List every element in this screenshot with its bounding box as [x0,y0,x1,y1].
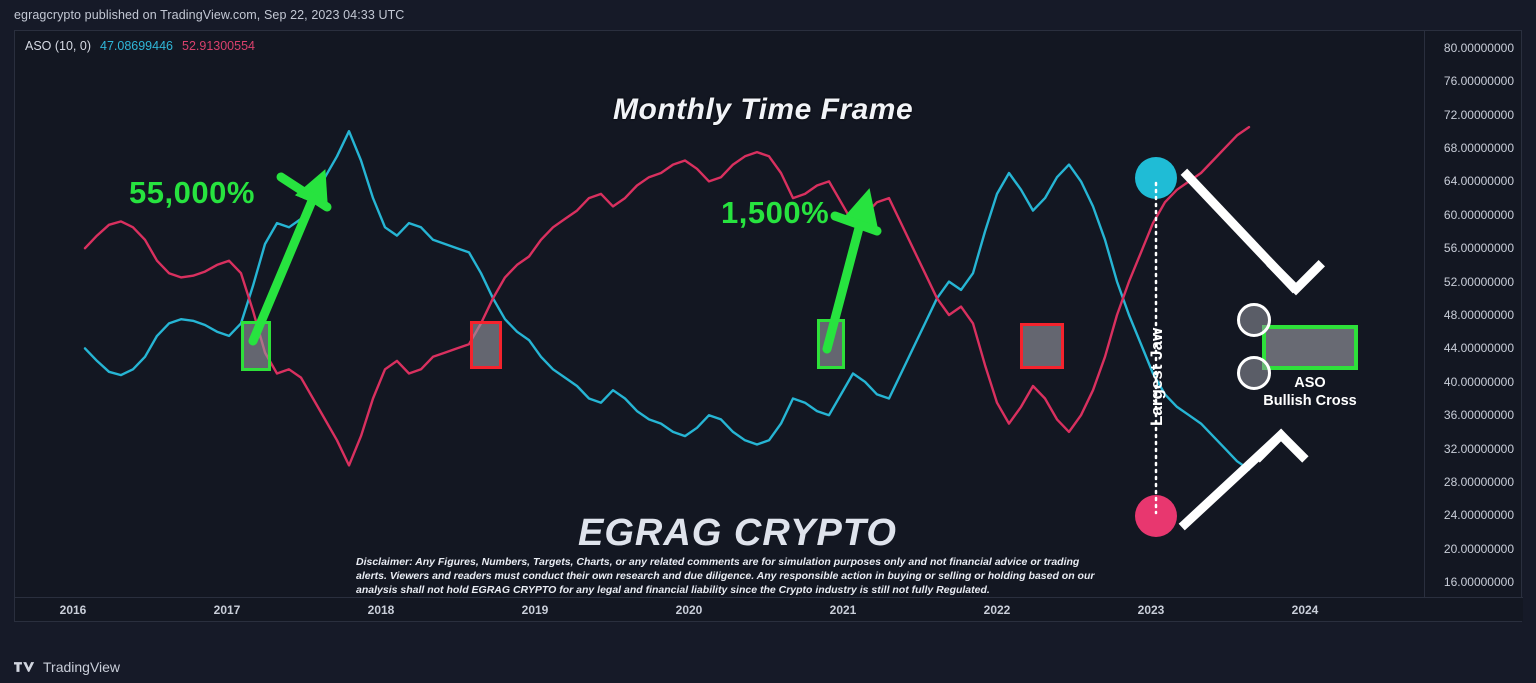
time-axis-tick: 2018 [368,603,395,617]
price-axis-tick: 60.00000000 [1444,208,1514,222]
bullish-cross-ring [1237,356,1271,390]
jaw-top-marker [1135,157,1177,199]
price-axis-tick: 40.00000000 [1444,375,1514,389]
price-axis-tick: 32.00000000 [1444,442,1514,456]
bearish-cross-ring [1237,303,1271,337]
legend-bull-value: 47.08699446 [100,39,173,53]
bearish-signal-box [1020,323,1064,369]
time-axis-tick: 2016 [60,603,87,617]
price-axis-tick: 68.00000000 [1444,141,1514,155]
time-axis-tick: 2022 [984,603,1011,617]
time-axis-tick: 2024 [1292,603,1319,617]
bullish-signal-box [817,319,845,369]
price-axis-tick: 56.00000000 [1444,241,1514,255]
time-axis-tick: 2017 [214,603,241,617]
price-axis-tick: 72.00000000 [1444,108,1514,122]
series-line [85,131,1249,469]
price-axis-tick: 24.00000000 [1444,508,1514,522]
price-axis-tick: 16.00000000 [1444,575,1514,589]
time-axis-tick: 2020 [676,603,703,617]
price-axis-tick: 64.00000000 [1444,174,1514,188]
price-axis-tick: 20.00000000 [1444,542,1514,556]
bearish-signal-box [470,321,502,369]
tradingview-brand-label: TradingView [43,659,120,675]
aso-result-box [1262,325,1358,370]
time-axis[interactable]: 201620172018201920202021202220232024 [15,597,1523,621]
price-axis-tick: 76.00000000 [1444,74,1514,88]
tradingview-logo-icon [14,660,36,674]
bullish-signal-box [241,321,271,371]
chart-pane: ASO (10, 0) 47.08699446 52.91300554 [14,30,1522,622]
price-axis[interactable]: 80.0000000076.0000000072.0000000068.0000… [1424,31,1521,599]
price-axis-tick: 52.00000000 [1444,275,1514,289]
price-axis-tick: 80.00000000 [1444,41,1514,55]
price-axis-tick: 28.00000000 [1444,475,1514,489]
plot-area[interactable]: Monthly Time Frame 55,000% 1,500% Larges… [15,31,1425,599]
time-axis-tick: 2021 [830,603,857,617]
time-axis-tick: 2023 [1138,603,1165,617]
series-canvas [15,31,1425,599]
legend-indicator-name: ASO (10, 0) [25,39,91,53]
indicator-legend[interactable]: ASO (10, 0) 47.08699446 52.91300554 [25,39,255,53]
legend-bear-value: 52.91300554 [182,39,255,53]
time-axis-tick: 2019 [522,603,549,617]
jaw-bottom-marker [1135,495,1177,537]
publisher-bar: egragcrypto published on TradingView.com… [0,0,1536,30]
price-axis-tick: 44.00000000 [1444,341,1514,355]
price-axis-tick: 36.00000000 [1444,408,1514,422]
tradingview-footer[interactable]: TradingView [14,659,120,675]
series-line [85,127,1249,465]
tradingview-chart-screenshot: egragcrypto published on TradingView.com… [0,0,1536,683]
price-axis-tick: 48.00000000 [1444,308,1514,322]
publisher-text: egragcrypto published on TradingView.com… [14,8,404,22]
